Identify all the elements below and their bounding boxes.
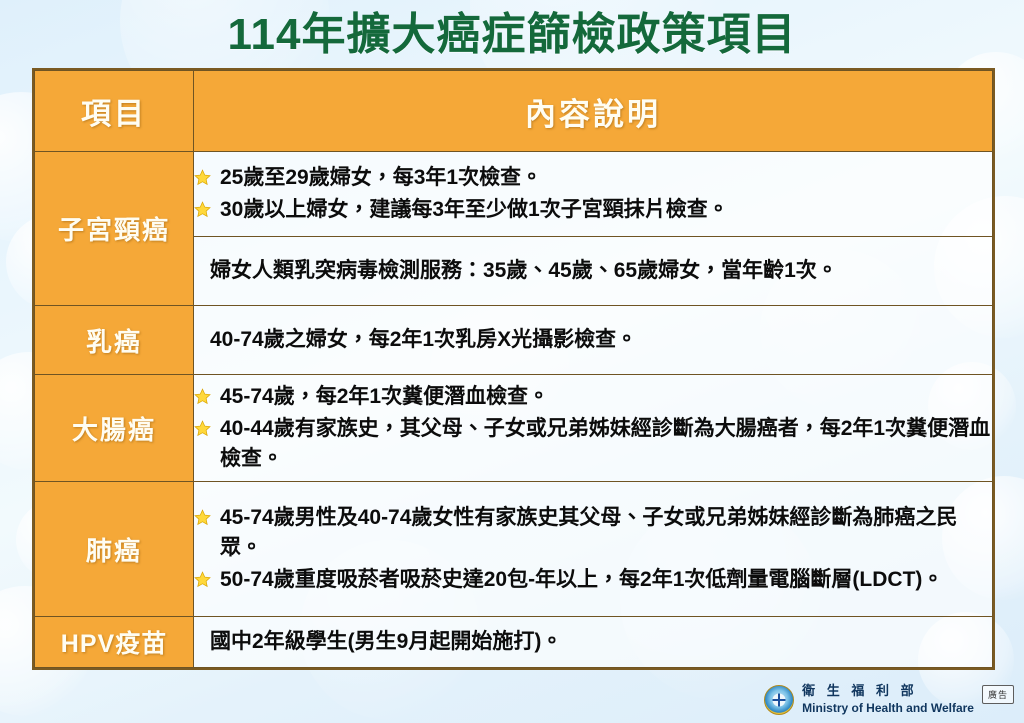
row-content-hpv: 國中2年級學生(男生9月起開始施打)。 <box>194 617 993 668</box>
list-item-text: 25歲至29歲婦女，每3年1次檢查。 <box>220 166 542 189</box>
row-item-label-breast: 乳癌 <box>35 306 194 375</box>
table-row: 肺癌 45-74歲男性及40-74歲女性有家族史其父母、子女或兄弟姊妹經診斷為肺… <box>35 482 993 617</box>
footer-agency-credit: 衛 生 福 利 部 Ministry of Health and Welfare… <box>764 683 1014 717</box>
row-item-label-colorectal: 大腸癌 <box>35 375 194 482</box>
policy-table-container: 項目 內容說明 子宮頸癌 25歲至29歲婦女 <box>32 68 995 670</box>
star-bullet-icon <box>194 201 211 218</box>
ad-badge: 廣告 <box>982 685 1014 704</box>
policy-table: 項目 內容說明 子宮頸癌 25歲至29歲婦女 <box>34 70 993 668</box>
bullet-list: 45-74歲男性及40-74歲女性有家族史其父母、子女或兄弟姊妹經診斷為肺癌之民… <box>194 503 992 595</box>
star-bullet-icon <box>194 169 211 186</box>
list-item: 45-74歲，每2年1次糞便潛血檢查。 <box>194 382 992 412</box>
page-title: 114年擴大癌症篩檢政策項目 <box>0 0 1024 64</box>
table-header-row: 項目 內容說明 <box>35 71 993 152</box>
list-item: 50-74歲重度吸菸者吸菸史達20包-年以上，每2年1次低劑量電腦斷層(LDCT… <box>194 565 992 595</box>
row-content-lung: 45-74歲男性及40-74歲女性有家族史其父母、子女或兄弟姊妹經診斷為肺癌之民… <box>194 482 993 617</box>
list-item: 30歲以上婦女，建議每3年至少做1次子宮頸抹片檢查。 <box>194 195 992 225</box>
column-header-item: 項目 <box>35 71 194 152</box>
content-line: 40-74歲之婦女，每2年1次乳房X光攝影檢查。 <box>210 325 992 355</box>
bullet-list: 25歲至29歲婦女，每3年1次檢查。 30歲以上婦女，建議每3年至少做1次子宮頸… <box>194 163 992 225</box>
content-line: 國中2年級學生(男生9月起開始施打)。 <box>210 627 992 657</box>
ministry-seal-icon <box>764 685 794 715</box>
bullet-list: 45-74歲，每2年1次糞便潛血檢查。 40-44歲有家族史，其父母、子女或兄弟… <box>194 382 992 474</box>
list-item: 40-44歲有家族史，其父母、子女或兄弟姊妹經診斷為大腸癌者，每2年1次糞便潛血… <box>194 414 992 474</box>
star-bullet-icon <box>194 388 211 405</box>
table-row: 大腸癌 45-74歲，每2年1次糞便潛血檢查。 <box>35 375 993 482</box>
row-content-colorectal: 45-74歲，每2年1次糞便潛血檢查。 40-44歲有家族史，其父母、子女或兄弟… <box>194 375 993 482</box>
row-content-cervical-a: 25歲至29歲婦女，每3年1次檢查。 30歲以上婦女，建議每3年至少做1次子宮頸… <box>194 152 993 237</box>
column-header-content: 內容說明 <box>194 71 993 152</box>
list-item-text: 45-74歲男性及40-74歲女性有家族史其父母、子女或兄弟姊妹經診斷為肺癌之民… <box>220 506 957 559</box>
row-content-breast: 40-74歲之婦女，每2年1次乳房X光攝影檢查。 <box>194 306 993 375</box>
list-item-text: 30歲以上婦女，建議每3年至少做1次子宮頸抹片檢查。 <box>220 198 729 221</box>
table-row: 乳癌 40-74歲之婦女，每2年1次乳房X光攝影檢查。 <box>35 306 993 375</box>
star-bullet-icon <box>194 509 211 526</box>
list-item-text: 45-74歲，每2年1次糞便潛血檢查。 <box>220 385 549 408</box>
agency-name-en: Ministry of Health and Welfare <box>802 701 974 715</box>
policy-table-body: 子宮頸癌 25歲至29歲婦女，每3年1次檢查。 <box>35 152 993 668</box>
row-item-label-lung: 肺癌 <box>35 482 194 617</box>
row-item-label-hpv: HPV疫苗 <box>35 617 194 668</box>
table-row: HPV疫苗 國中2年級學生(男生9月起開始施打)。 <box>35 617 993 668</box>
content-line: 婦女人類乳突病毒檢測服務：35歲、45歲、65歲婦女，當年齡1次。 <box>210 256 992 286</box>
agency-name-zh: 衛 生 福 利 部 <box>802 683 917 698</box>
row-content-cervical-b: 婦女人類乳突病毒檢測服務：35歲、45歲、65歲婦女，當年齡1次。 <box>194 237 993 306</box>
list-item: 25歲至29歲婦女，每3年1次檢查。 <box>194 163 992 193</box>
list-item: 45-74歲男性及40-74歲女性有家族史其父母、子女或兄弟姊妹經診斷為肺癌之民… <box>194 503 992 563</box>
star-bullet-icon <box>194 571 211 588</box>
row-item-label-cervical: 子宮頸癌 <box>35 152 194 306</box>
agency-name: 衛 生 福 利 部 Ministry of Health and Welfare <box>802 683 974 717</box>
list-item-text: 40-44歲有家族史，其父母、子女或兄弟姊妹經診斷為大腸癌者，每2年1次糞便潛血… <box>220 417 990 470</box>
table-row: 子宮頸癌 25歲至29歲婦女，每3年1次檢查。 <box>35 152 993 237</box>
star-bullet-icon <box>194 420 211 437</box>
list-item-text: 50-74歲重度吸菸者吸菸史達20包-年以上，每2年1次低劑量電腦斷層(LDCT… <box>220 568 943 591</box>
